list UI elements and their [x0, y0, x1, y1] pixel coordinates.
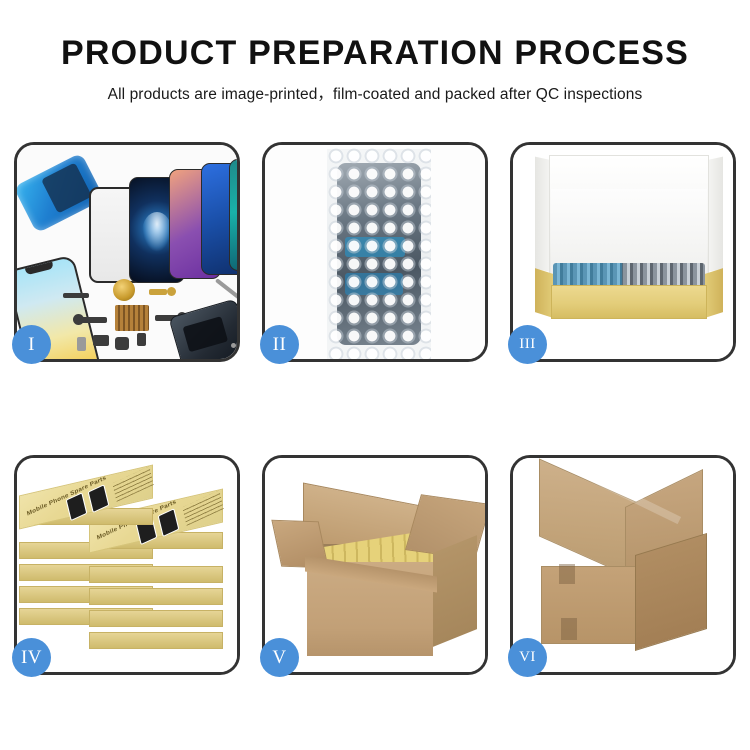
process-step-panel-3[interactable]: III — [510, 142, 736, 362]
step-badge-1: I — [12, 325, 51, 364]
page-title: PRODUCT PREPARATION PROCESS — [0, 36, 750, 72]
process-step-panel-2[interactable]: II — [262, 142, 488, 362]
process-step-panel-4[interactable]: Mobile Phone Spare Parts Mobile Phone Sp… — [14, 455, 240, 675]
step-1-image — [17, 145, 237, 359]
step-3-image — [513, 145, 733, 359]
page-header: PRODUCT PREPARATION PROCESS All products… — [0, 0, 750, 104]
step-2-image — [265, 145, 485, 359]
spare-parts-group — [63, 285, 237, 359]
step-6-image — [513, 458, 733, 672]
process-step-grid: I II III — [14, 142, 736, 680]
step-badge-6: VI — [508, 638, 547, 677]
step-badge-5: V — [260, 638, 299, 677]
mailer-box-front — [551, 285, 707, 319]
process-step-panel-1[interactable]: I — [14, 142, 240, 362]
page-subtitle: All products are image-printed，film-coat… — [0, 82, 750, 104]
process-step-panel-6[interactable]: VI — [510, 455, 736, 675]
sealed-carton-front — [541, 566, 637, 644]
step-4-image: Mobile Phone Spare Parts Mobile Phone Sp… — [17, 458, 237, 672]
step-badge-2: II — [260, 325, 299, 364]
bubble-wrap-texture — [327, 147, 431, 359]
step-badge-4: IV — [12, 638, 51, 677]
step-badge-3: III — [508, 325, 547, 364]
step-5-image — [265, 458, 485, 672]
phone-screen-stack — [89, 159, 237, 284]
process-step-panel-5[interactable]: V — [262, 455, 488, 675]
